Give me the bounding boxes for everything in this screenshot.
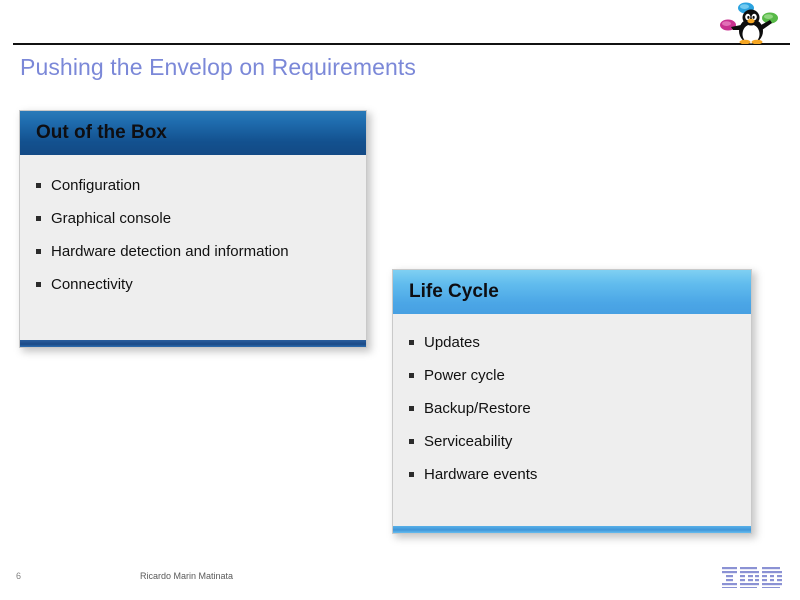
list-item: Graphical console <box>28 202 366 235</box>
presentation-slide: Pushing the Envelop on Requirements Out … <box>0 0 800 600</box>
box-accent-bar-life-cycle <box>393 526 751 533</box>
bullet-list-life-cycle: Updates Power cycle Backup/Restore Servi… <box>393 314 751 491</box>
box-accent-bar-out-of-the-box <box>20 340 366 347</box>
content-box-life-cycle: Life Cycle Updates Power cycle Backup/Re… <box>392 269 752 534</box>
box-body-out-of-the-box: Configuration Graphical console Hardware… <box>20 155 366 340</box>
list-item-label: Serviceability <box>424 425 512 458</box>
tux-juggling-icon <box>706 0 790 44</box>
header-divider <box>13 43 790 45</box>
square-bullet-icon <box>409 439 414 444</box>
box-body-life-cycle: Updates Power cycle Backup/Restore Servi… <box>393 314 751 526</box>
footer-author: Ricardo Marin Matinata <box>140 571 233 581</box>
list-item: Configuration <box>28 169 366 202</box>
list-item-label: Graphical console <box>51 202 171 235</box>
square-bullet-icon <box>409 373 414 378</box>
square-bullet-icon <box>409 472 414 477</box>
list-item-label: Backup/Restore <box>424 392 531 425</box>
content-box-out-of-the-box: Out of the Box Configuration Graphical c… <box>19 110 367 348</box>
box-heading-out-of-the-box: Out of the Box <box>20 111 366 155</box>
list-item: Serviceability <box>401 425 751 458</box>
list-item: Power cycle <box>401 359 751 392</box>
square-bullet-icon <box>36 249 41 254</box>
square-bullet-icon <box>409 406 414 411</box>
box-heading-life-cycle: Life Cycle <box>393 270 751 314</box>
list-item-label: Configuration <box>51 169 140 202</box>
square-bullet-icon <box>36 183 41 188</box>
page-title: Pushing the Envelop on Requirements <box>20 52 720 82</box>
list-item-label: Connectivity <box>51 268 133 301</box>
list-item-label: Hardware detection and information <box>51 235 289 268</box>
square-bullet-icon <box>36 216 41 221</box>
bullet-list-out-of-the-box: Configuration Graphical console Hardware… <box>20 155 366 301</box>
list-item: Hardware detection and information <box>28 235 366 268</box>
square-bullet-icon <box>36 282 41 287</box>
list-item: Backup/Restore <box>401 392 751 425</box>
list-item-label: Updates <box>424 326 480 359</box>
list-item-label: Power cycle <box>424 359 505 392</box>
list-item: Hardware events <box>401 458 751 491</box>
list-item-label: Hardware events <box>424 458 537 491</box>
footer-page-number: 6 <box>16 571 21 581</box>
list-item: Connectivity <box>28 268 366 301</box>
ibm-logo-icon <box>722 566 784 588</box>
list-item: Updates <box>401 326 751 359</box>
square-bullet-icon <box>409 340 414 345</box>
